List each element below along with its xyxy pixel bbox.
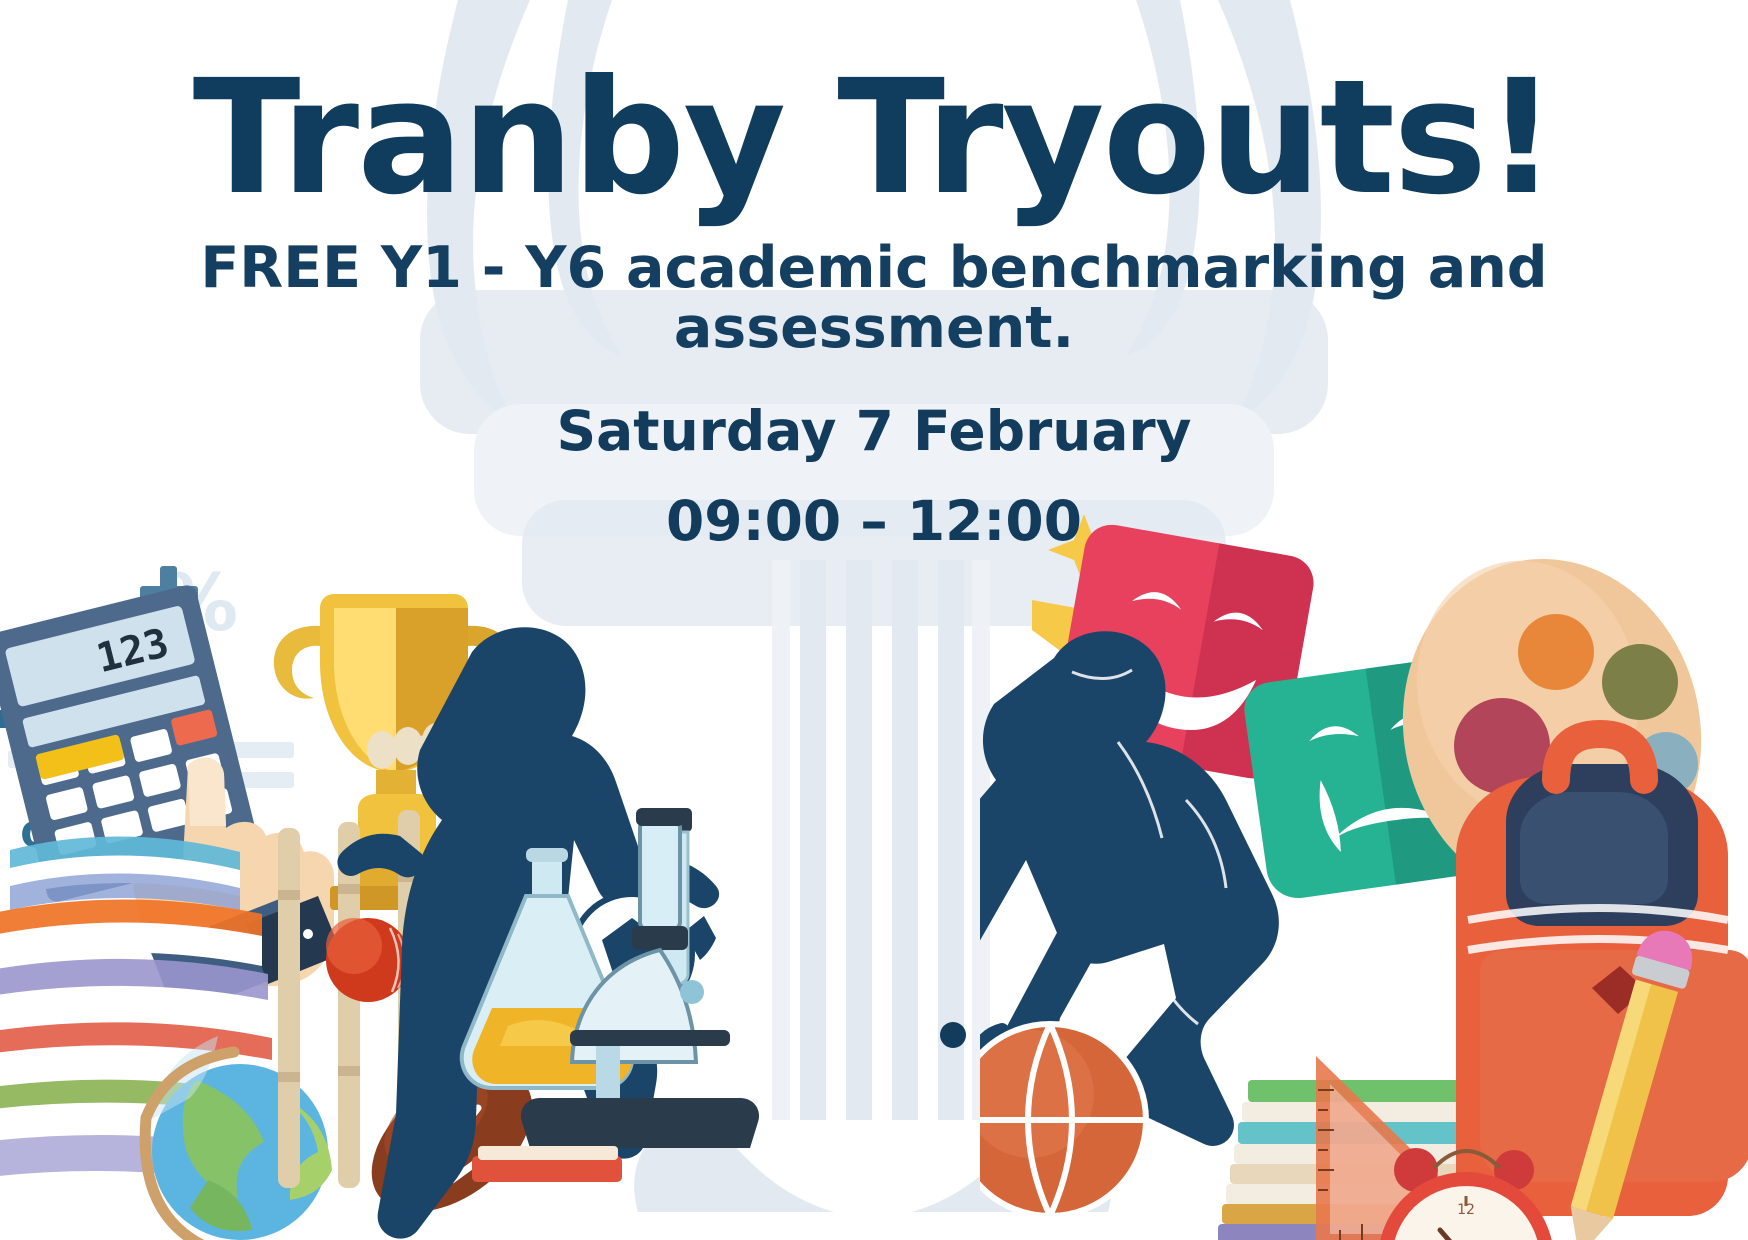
book-stack-icon [472, 1146, 622, 1182]
basketball-icon [980, 1024, 1146, 1216]
poster-canvas: Tranby Tryouts! FREE Y1 - Y6 academic be… [0, 0, 1748, 1240]
cricket-ball-icon [326, 918, 410, 1002]
decorative-dot [940, 1022, 966, 1048]
page-title: Tranby Tryouts! [0, 0, 1748, 219]
svg-text:12: 12 [1457, 1202, 1475, 1218]
mid-art-cluster [240, 560, 940, 1240]
event-date: Saturday 7 February [0, 359, 1748, 461]
right-art-cluster: 12 3 6 9 [980, 480, 1748, 1240]
event-time: 09:00 – 12:00 [0, 461, 1748, 551]
poster-text-block: Tranby Tryouts! FREE Y1 - Y6 academic be… [0, 0, 1748, 550]
poster-subtitle: FREE Y1 - Y6 academic benchmarking and a… [0, 219, 1748, 359]
